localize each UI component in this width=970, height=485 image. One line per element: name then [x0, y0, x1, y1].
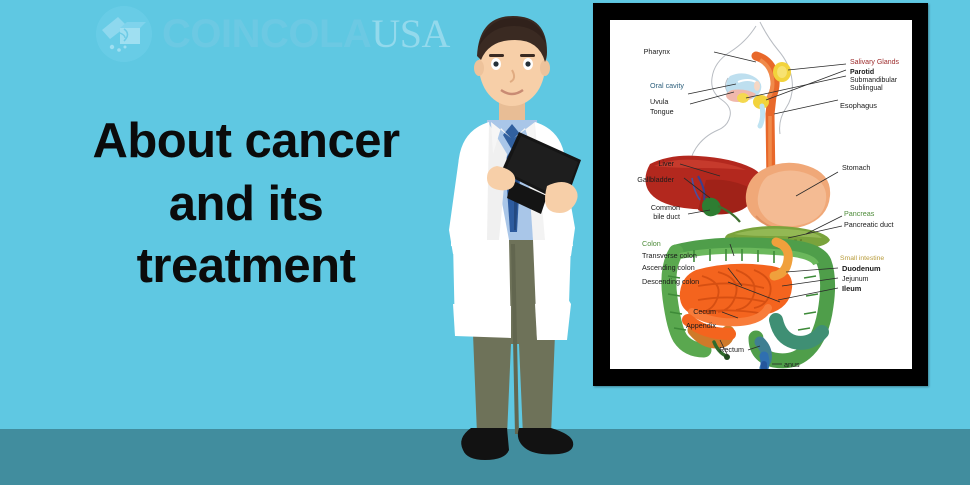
headline-line-2: and its: [28, 173, 464, 236]
headline-line-1: About cancer: [28, 110, 464, 173]
label-uvula: Uvula: [650, 97, 668, 106]
label-duodenum: Duodenum: [842, 264, 881, 273]
label-oral-cavity: Oral cavity: [650, 81, 684, 90]
label-sublingual: Sublingual: [850, 85, 883, 92]
label-ileum: Ileum: [842, 284, 862, 293]
label-submandibular: Submandibular: [850, 77, 898, 84]
label-bile-duct: bile duct: [653, 212, 680, 221]
label-stomach: Stomach: [842, 163, 870, 172]
label-liver: Liver: [658, 159, 674, 168]
watermark-logo: COINCOLAUSA: [96, 5, 450, 63]
banner-canvas: COINCOLAUSA About cancer and its treatme…: [0, 0, 970, 485]
label-common: Common: [651, 203, 680, 212]
coincola-coin-icon: [96, 6, 152, 62]
label-pancreatic-duct: Pancreatic duct: [844, 220, 894, 229]
digestive-system-poster-frame: Pharynx Oral cavity Uvula Tongue Salivar…: [593, 3, 928, 386]
label-cecum: Cecum: [693, 307, 716, 316]
label-parotid: Parotid: [850, 69, 874, 76]
label-descending-colon: Descending colon: [642, 277, 699, 286]
label-transverse-colon: Transverse colon: [642, 251, 697, 260]
label-gallbladder: Gallbladder: [637, 175, 674, 184]
digestive-system-poster-canvas: Pharynx Oral cavity Uvula Tongue Salivar…: [610, 20, 912, 369]
watermark-wordmark: COINCOLAUSA: [162, 14, 450, 54]
label-colon: Colon: [642, 239, 661, 248]
watermark-text-bold: COINCOLA: [162, 12, 371, 56]
label-esophagus: Esophagus: [840, 101, 877, 110]
label-tongue: Tongue: [650, 107, 674, 116]
label-pancreas: Pancreas: [844, 209, 875, 218]
label-rectum: Rectum: [719, 345, 744, 354]
label-jejunum: Jejunum: [842, 276, 869, 283]
headline-line-3: treatment: [28, 235, 464, 298]
page-title: About cancer and its treatment: [28, 110, 464, 298]
label-ascending-colon: Ascending colon: [642, 263, 695, 272]
label-appendix: Appendix: [686, 321, 716, 330]
label-salivary-glands: Salivary Glands: [850, 59, 900, 66]
label-pharynx: Pharynx: [644, 47, 671, 56]
label-anus: anus: [784, 360, 800, 369]
label-small-intestine: Small intestine: [840, 255, 884, 262]
doctor-illustration: [415, 4, 605, 474]
